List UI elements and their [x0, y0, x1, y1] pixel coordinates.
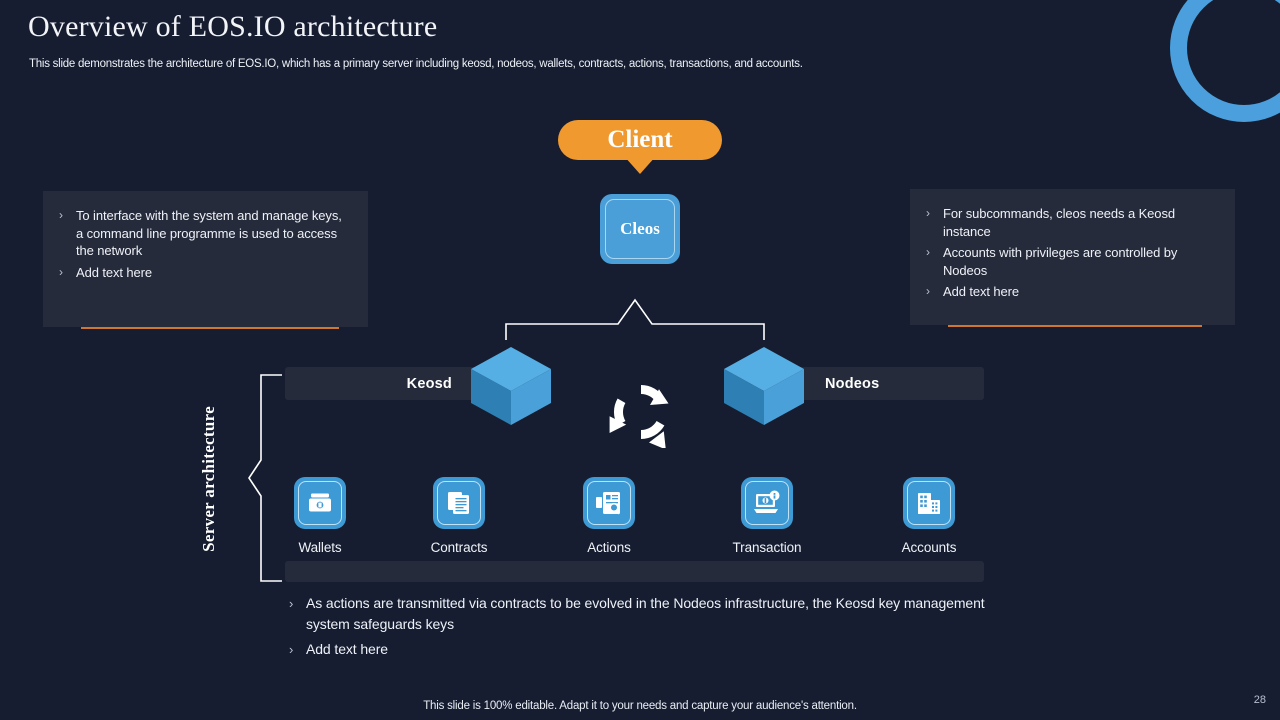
list-item: › Accounts with privileges are controlle…	[926, 244, 1215, 279]
footer-note: This slide is 100% editable. Adapt it to…	[0, 700, 1280, 712]
component-tile[interactable]	[294, 477, 346, 529]
list-item: › To interface with the system and manag…	[59, 207, 348, 260]
component-label: Actions	[554, 540, 664, 555]
left-box-underline	[81, 327, 339, 329]
circular-arrows-icon	[598, 376, 684, 448]
keosd-cube-icon	[465, 339, 557, 431]
cleos-label: Cleos	[605, 199, 675, 259]
list-item-text[interactable]: Add text here	[943, 283, 1019, 301]
list-item: › For subcommands, cleos needs a Keosd i…	[926, 205, 1215, 240]
component-actions[interactable]: Actions	[554, 477, 664, 555]
chevron-right-icon: ›	[289, 639, 306, 660]
component-label: Wallets	[265, 540, 375, 555]
nodeos-cube-icon	[718, 339, 810, 431]
connector-bracket	[500, 296, 770, 340]
client-banner-body: Client	[558, 120, 722, 160]
list-item-text: For subcommands, cleos needs a Keosd ins…	[943, 205, 1215, 240]
chevron-right-icon: ›	[926, 283, 943, 300]
component-tile[interactable]	[433, 477, 485, 529]
component-label: Contracts	[404, 540, 514, 555]
component-wallets[interactable]: Wallets	[265, 477, 375, 555]
list-item: › Add text here	[926, 283, 1215, 301]
component-transaction[interactable]: Transaction	[712, 477, 822, 555]
documents-icon	[437, 481, 481, 525]
component-tile[interactable]	[903, 477, 955, 529]
decorative-ring	[1170, 0, 1280, 122]
list-item-text: Accounts with privileges are controlled …	[943, 244, 1215, 279]
chevron-right-icon: ›	[59, 207, 76, 224]
left-info-box: › To interface with the system and manag…	[43, 191, 368, 327]
client-pointer-icon	[624, 156, 656, 174]
nodeos-label: Nodeos	[825, 376, 879, 392]
list-item-text[interactable]: Add text here	[76, 264, 152, 282]
page-subtitle: This slide demonstrates the architecture…	[29, 58, 803, 70]
document-search-icon	[587, 481, 631, 525]
chevron-right-icon: ›	[926, 205, 943, 222]
bottom-accent-bar	[285, 561, 984, 582]
component-tile[interactable]	[741, 477, 793, 529]
buildings-icon	[907, 481, 951, 525]
slide-canvas: Overview of EOS.IO architecture This sli…	[0, 0, 1280, 720]
client-banner: Client	[558, 120, 722, 174]
list-item: › Add text here	[59, 264, 348, 282]
page-title: Overview of EOS.IO architecture	[28, 10, 437, 44]
list-item-text: To interface with the system and manage …	[76, 207, 348, 260]
right-info-box: › For subcommands, cleos needs a Keosd i…	[910, 189, 1235, 325]
chevron-right-icon: ›	[59, 264, 76, 281]
list-item-text[interactable]: Add text here	[306, 639, 388, 660]
laptop-payment-icon	[745, 481, 789, 525]
component-contracts[interactable]: Contracts	[404, 477, 514, 555]
right-box-underline	[948, 325, 1202, 327]
list-item: › Add text here	[289, 639, 1009, 660]
connector-lines-icon	[500, 296, 770, 340]
list-item: › As actions are transmitted via contrac…	[289, 593, 1009, 635]
component-label: Transaction	[712, 540, 822, 555]
component-tile[interactable]	[583, 477, 635, 529]
list-item-text: As actions are transmitted via contracts…	[306, 593, 1009, 635]
page-number: 28	[1254, 694, 1266, 706]
wallet-icon	[298, 481, 342, 525]
cleos-node[interactable]: Cleos	[600, 194, 680, 264]
component-accounts[interactable]: Accounts	[874, 477, 984, 555]
server-architecture-label: Server architecture	[193, 372, 225, 586]
client-label: Client	[607, 126, 672, 154]
chevron-right-icon: ›	[289, 593, 306, 614]
bottom-info-box: › As actions are transmitted via contrac…	[289, 593, 1009, 664]
keosd-label: Keosd	[407, 376, 452, 392]
chevron-right-icon: ›	[926, 244, 943, 261]
component-label: Accounts	[874, 540, 984, 555]
